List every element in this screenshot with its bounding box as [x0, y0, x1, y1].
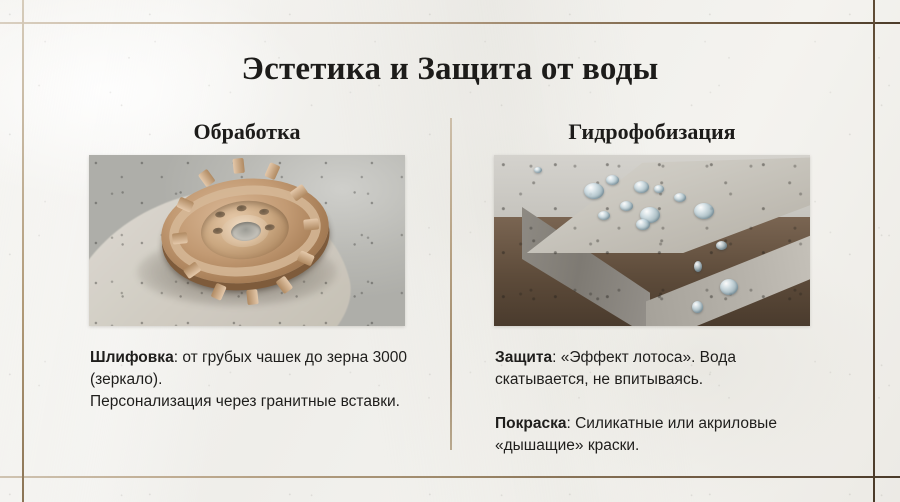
water-droplet [694, 203, 714, 219]
water-droplet [654, 185, 664, 193]
image-hydrophobic-concrete-slab [494, 155, 810, 326]
paragraph: Покраска: Силикатные или акриловые «дыша… [495, 413, 825, 457]
paragraph-separator: : [566, 415, 575, 432]
slab-pore-texture [494, 155, 810, 326]
water-droplet [534, 167, 542, 173]
paragraph-text: Персонализация через гранитные вставки. [90, 393, 400, 410]
water-droplet [584, 183, 604, 199]
water-droplet [694, 261, 702, 272]
paragraph-separator: : [552, 349, 561, 366]
body-text-left: Шлифовка: от грубых чашек до зерна 3000 … [90, 347, 420, 413]
grinding-wheel [156, 171, 334, 292]
column-divider [450, 118, 452, 450]
slide-title: Эстетика и Защита от воды [0, 51, 900, 88]
water-droplet [636, 219, 650, 230]
paragraph-lead: Покраска [495, 415, 566, 432]
slide-root: Эстетика и Защита от воды Обработка [0, 0, 900, 502]
water-droplet [598, 211, 610, 220]
water-droplet [674, 193, 686, 202]
body-text-right: Защита: «Эффект лотоса». Вода скатываетс… [495, 347, 825, 457]
paragraph-lead: Шлифовка [90, 349, 174, 366]
column-heading-right: Гидрофобизация [494, 119, 810, 145]
paragraph-lead: Защита [495, 349, 552, 366]
water-droplet [606, 175, 619, 185]
column-heading-left: Обработка [89, 119, 405, 145]
paragraph: Защита: «Эффект лотоса». Вода скатываетс… [495, 347, 825, 391]
paragraph: Персонализация через гранитные вставки. [90, 391, 420, 413]
water-droplet [720, 279, 738, 295]
water-droplet [716, 241, 727, 250]
water-droplet [634, 181, 649, 193]
slab-scene [494, 155, 810, 326]
wheel-segment [171, 232, 187, 245]
water-droplet [620, 201, 633, 211]
wheel-segment [303, 218, 319, 231]
water-droplet [692, 301, 703, 313]
paragraph: Шлифовка: от грубых чашек до зерна 3000 … [90, 347, 420, 391]
wheel-segment [246, 289, 259, 305]
wheel-segment [232, 157, 245, 173]
image-diamond-cup-grinding-wheel [89, 155, 405, 326]
